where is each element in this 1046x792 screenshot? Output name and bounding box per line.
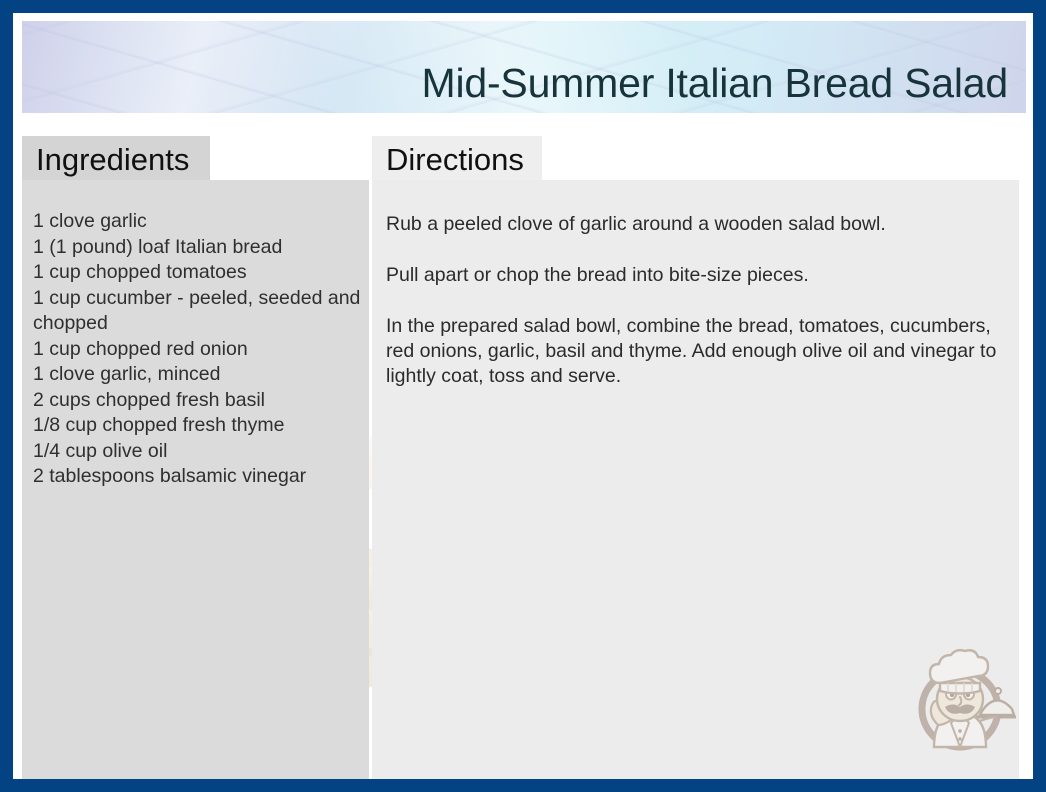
chef-mascot-logo [904, 641, 1016, 753]
directions-tab: Directions [372, 136, 542, 180]
list-item: 1 cup chopped red onion [33, 337, 361, 363]
list-item: 2 cups chopped fresh basil [33, 388, 361, 414]
direction-step: Rub a peeled clove of garlic around a wo… [386, 212, 1001, 237]
ingredients-tab: Ingredients [22, 136, 210, 180]
list-item: 1 clove garlic, minced [33, 362, 361, 388]
list-item: 1 clove garlic [33, 209, 361, 235]
title-banner: Mid-Summer Italian Bread Salad [22, 21, 1026, 113]
direction-steps: Rub a peeled clove of garlic around a wo… [386, 212, 1001, 389]
recipe-slide: Mid-Summer Italian Bread Salad [0, 0, 1046, 792]
direction-step: In the prepared salad bowl, combine the … [386, 314, 1001, 389]
ingredients-heading: Ingredients [36, 144, 189, 175]
list-item: 1 (1 pound) loaf Italian bread [33, 235, 361, 261]
ingredients-body: 1 clove garlic 1 (1 pound) loaf Italian … [22, 180, 369, 792]
list-item: 1/4 cup olive oil [33, 439, 361, 465]
list-item: 1 cup chopped tomatoes [33, 260, 361, 286]
ingredient-list: 1 clove garlic 1 (1 pound) loaf Italian … [33, 209, 361, 490]
ingredients-panel: Ingredients 1 clove garlic 1 (1 pound) l… [22, 136, 369, 792]
list-item: 1/8 cup chopped fresh thyme [33, 413, 361, 439]
page-title: Mid-Summer Italian Bread Salad [422, 60, 1008, 107]
list-item: 1 cup cucumber - peeled, seeded and chop… [33, 286, 361, 337]
list-item: 2 tablespoons balsamic vinegar [33, 464, 361, 490]
directions-heading: Directions [386, 144, 524, 175]
direction-step: Pull apart or chop the bread into bite-s… [386, 263, 1001, 288]
